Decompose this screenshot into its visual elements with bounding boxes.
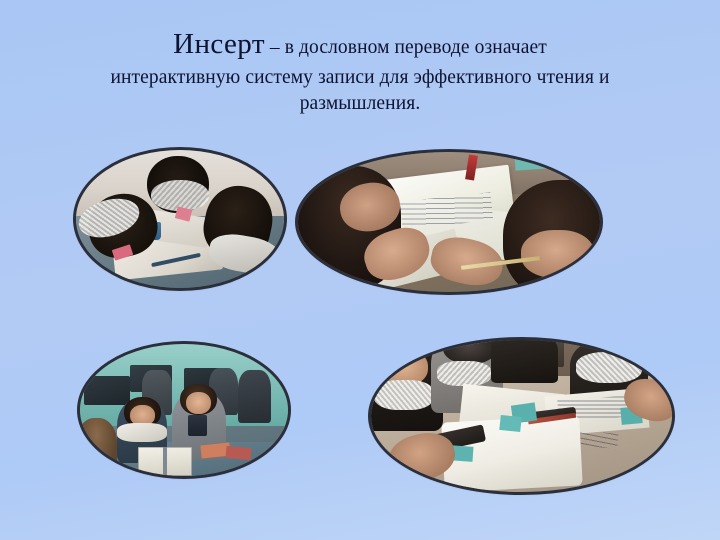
book-spine [163, 447, 167, 476]
classroom-desk-scene [76, 150, 284, 288]
teal-note-b [500, 415, 523, 432]
student-collar-left [117, 423, 167, 441]
lace-collar-far-left [374, 380, 434, 410]
hands-with-papers-scene [298, 152, 600, 292]
red-card [225, 446, 251, 460]
dark-board-a [84, 376, 130, 405]
photo-oval-bottom-right[interactable] [371, 340, 672, 492]
group-table-scene [371, 340, 672, 492]
student-foreground [80, 418, 117, 473]
photo-oval-bottom-left[interactable] [80, 344, 288, 476]
student-tie-center [188, 415, 207, 436]
title-line2: интерактивную систему записи для эффекти… [26, 65, 694, 90]
title-lead-word: Инсерт [173, 28, 265, 60]
lace-collar-left [437, 361, 491, 385]
title-line1-rest: – в дословном переводе означает [265, 37, 547, 58]
student-body-center [491, 340, 557, 383]
photo-oval-top-right[interactable] [298, 152, 600, 292]
photo-oval-top-left[interactable] [76, 150, 284, 288]
classroom-wide-scene [80, 344, 288, 476]
page-title: Инсерт – в дословном переводе означает и… [26, 26, 694, 116]
slide-canvas: Инсерт – в дословном переводе означает и… [0, 0, 720, 540]
student-face-center [186, 392, 211, 414]
student-face-right [521, 230, 593, 278]
lace-collar-right [576, 352, 642, 382]
background-student-c [238, 370, 271, 423]
title-line3: размышления. [26, 91, 694, 116]
